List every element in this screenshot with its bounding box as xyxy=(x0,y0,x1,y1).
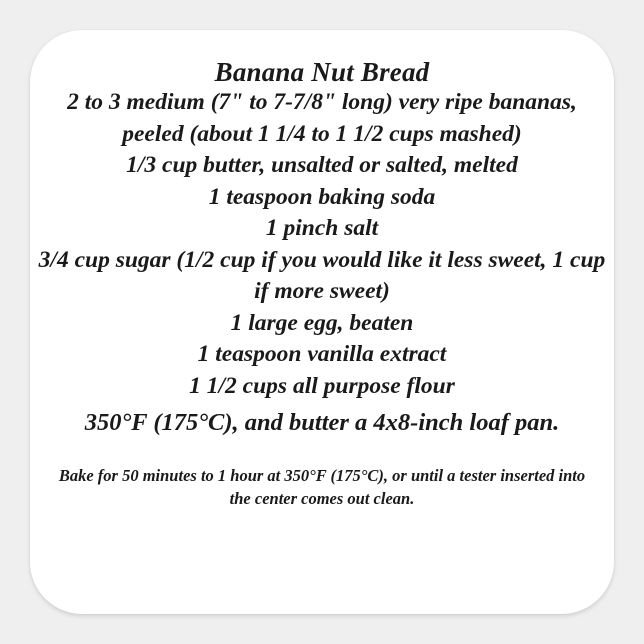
bake-setup-line: 350°F (175°C), and butter a 4x8-inch loa… xyxy=(30,402,614,440)
ingredient-item-bananas: 2 to 3 medium (7" to 7-7/8" long) very r… xyxy=(30,87,614,150)
ingredient-item-egg: 1 large egg, beaten xyxy=(30,308,614,340)
ingredient-item-baking-soda: 1 teaspoon baking soda xyxy=(30,182,614,214)
recipe-sticker: Banana Nut Bread 2 to 3 medium (7" to 7-… xyxy=(30,30,614,614)
sticker-canvas: Banana Nut Bread 2 to 3 medium (7" to 7-… xyxy=(0,0,644,644)
ingredient-item-vanilla: 1 teaspoon vanilla extract xyxy=(30,339,614,371)
ingredient-item-sugar: 3/4 cup sugar (1/2 cup if you would like… xyxy=(30,245,614,308)
ingredient-item-flour: 1 1/2 cups all purpose flour xyxy=(30,371,614,403)
ingredient-item-salt: 1 pinch salt xyxy=(30,213,614,245)
ingredient-item-butter: 1/3 cup butter, unsalted or salted, melt… xyxy=(30,150,614,182)
sticker-content: Banana Nut Bread 2 to 3 medium (7" to 7-… xyxy=(30,30,614,510)
ingredient-list: 2 to 3 medium (7" to 7-7/8" long) very r… xyxy=(30,87,614,402)
recipe-title: Banana Nut Bread xyxy=(30,30,614,87)
bake-instructions-note: Bake for 50 minutes to 1 hour at 350°F (… xyxy=(30,440,614,510)
